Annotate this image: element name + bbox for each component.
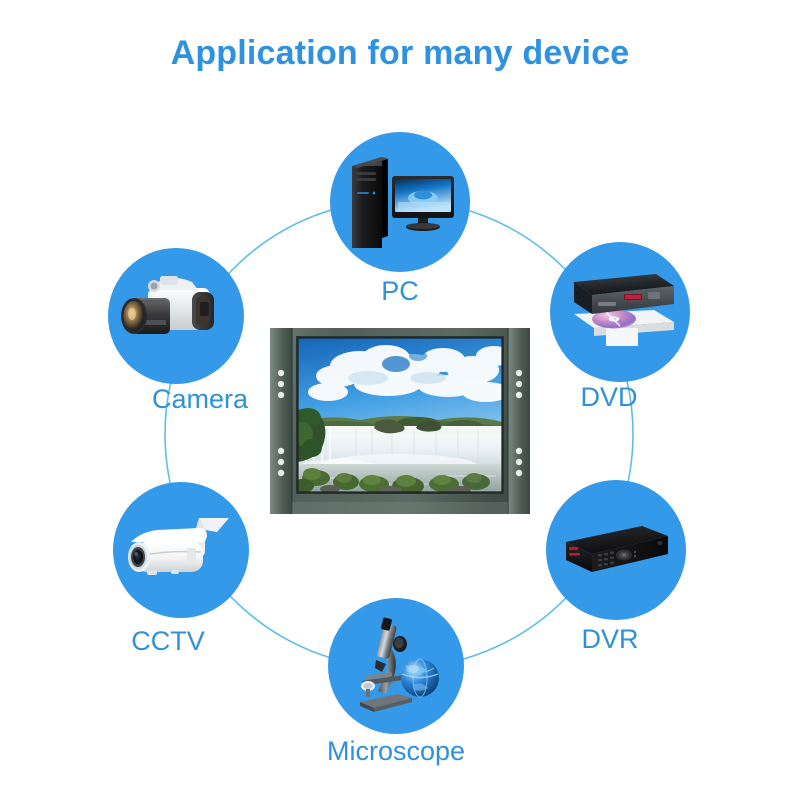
- dvd-bubble[interactable]: [550, 242, 690, 382]
- dslr-camera-icon: [108, 248, 244, 384]
- dvr-label: DVR: [540, 626, 680, 653]
- camera-bubble[interactable]: [108, 248, 244, 384]
- cctv-label: CCTV: [98, 628, 238, 655]
- microscope-icon: [328, 598, 464, 734]
- camera-label: Camera: [130, 386, 270, 413]
- pc-bubble[interactable]: [330, 132, 470, 272]
- microscope-label: Microscope: [326, 738, 466, 765]
- monitor-graphic: [268, 326, 532, 523]
- application-diagram: Application for many device: [0, 0, 800, 800]
- desktop-computer-icon: [330, 132, 470, 272]
- dvd-label: DVD: [539, 384, 679, 411]
- bullet-cctv-camera-icon: [113, 482, 249, 618]
- screen-image: [290, 338, 512, 495]
- pc-label: PC: [330, 278, 470, 305]
- dvr-bubble[interactable]: [546, 480, 686, 620]
- microscope-bubble[interactable]: [328, 598, 464, 734]
- dvr-recorder-icon: [546, 480, 686, 620]
- cctv-bubble[interactable]: [113, 482, 249, 618]
- dvd-player-icon: [550, 242, 690, 382]
- open-frame-industrial-monitor[interactable]: [268, 326, 532, 523]
